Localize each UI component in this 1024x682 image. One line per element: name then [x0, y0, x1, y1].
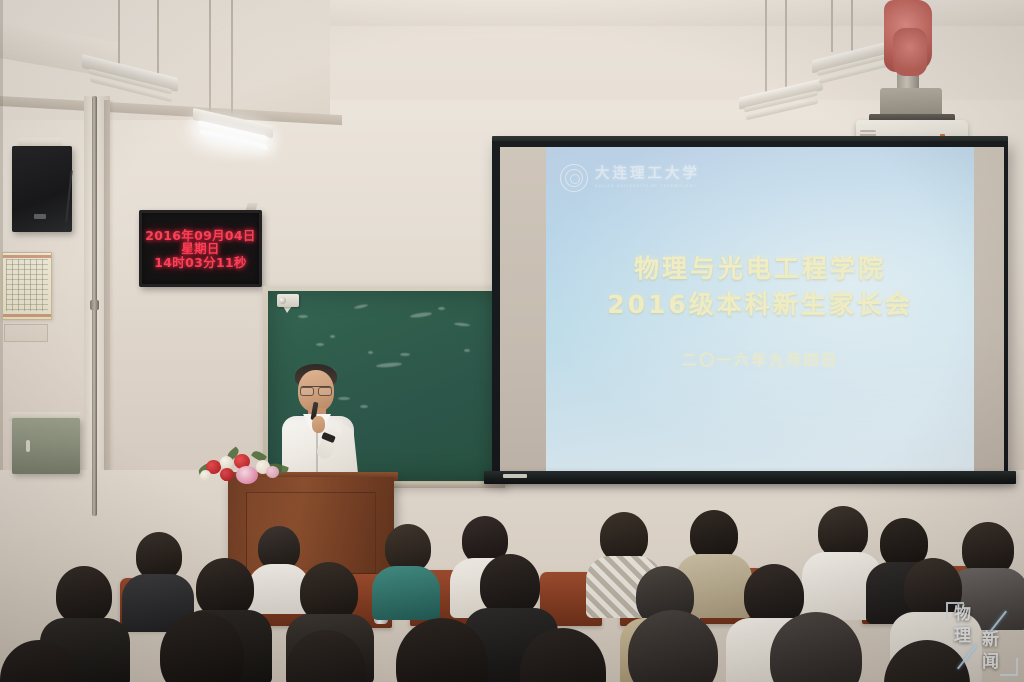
light-cable — [209, 0, 211, 120]
audience-head — [136, 532, 182, 580]
university-name-en: DALIAN UNIVERSITY OF TECHNOLOGY — [595, 185, 700, 189]
watermark-char-4: 闻 — [982, 654, 999, 671]
electrical-cabinet — [12, 418, 80, 474]
lecture-hall-photo: 2016年09月04日 星期日 14时03分11秒 — [0, 0, 1024, 682]
watermark-arrow-down — [957, 645, 977, 670]
watermark-char-3: 新 — [982, 632, 999, 649]
watermark-char-2: 理 — [954, 628, 971, 645]
screen-blank-right — [974, 147, 1004, 473]
screen-blank-left — [500, 147, 546, 473]
light-cable — [851, 0, 853, 56]
university-emblem-icon — [560, 164, 588, 192]
channel-watermark: 物 理 新 闻 — [946, 602, 1018, 676]
light-cable — [118, 0, 120, 70]
watermark-char-1: 物 — [954, 606, 971, 623]
fluorescent-fixture-lit — [193, 117, 273, 151]
presenter-glasses — [300, 386, 332, 394]
university-logo: 大连理工大学 DALIAN UNIVERSITY OF TECHNOLOGY — [560, 161, 718, 195]
speaker-logo — [34, 214, 46, 219]
cabinet-latch — [26, 440, 30, 452]
presenter-hand — [312, 416, 325, 433]
light-cable — [157, 0, 159, 74]
periodic-table-poster — [2, 252, 52, 320]
audience — [0, 470, 1024, 682]
light-cable — [785, 0, 787, 96]
audience-head — [818, 506, 868, 558]
audience-head — [196, 558, 254, 618]
audience-head — [385, 524, 431, 572]
projector-pole-wrap2 — [893, 28, 927, 76]
audience-head — [600, 512, 648, 562]
university-name-cn: 大连理工大学 — [595, 167, 700, 182]
light-cable — [231, 0, 233, 124]
light-cable — [831, 0, 833, 52]
audience-head — [300, 562, 358, 622]
pipe-joint — [90, 300, 99, 310]
slide-title-line-1: 物理与光电工程学院 — [546, 251, 974, 287]
audience-head — [690, 510, 738, 560]
led-weekday-line: 星期日 — [181, 242, 219, 256]
projected-slide: 大连理工大学 DALIAN UNIVERSITY OF TECHNOLOGY 物… — [546, 147, 974, 473]
slide-date: 二〇一六年九月四日 — [546, 349, 974, 370]
slide-title: 物理与光电工程学院 2016级本科新生家长会 — [546, 251, 974, 322]
board-camera-sensor — [277, 294, 299, 307]
light-cable — [765, 0, 767, 92]
watermark-bracket-br — [1000, 658, 1018, 676]
wall-speaker — [12, 146, 72, 232]
slide-title-line-2: 2016级本科新生家长会 — [546, 287, 974, 323]
wall-column-shadow — [104, 100, 114, 512]
audience-head — [480, 554, 540, 616]
audience-head — [56, 566, 112, 624]
led-clock-display: 2016年09月04日 星期日 14时03分11秒 — [139, 210, 262, 287]
led-time-line: 14时03分11秒 — [154, 256, 246, 270]
fluorescent-fixture-unlit — [739, 88, 823, 122]
poster-caption-box — [4, 324, 48, 342]
audience-body — [372, 566, 440, 620]
